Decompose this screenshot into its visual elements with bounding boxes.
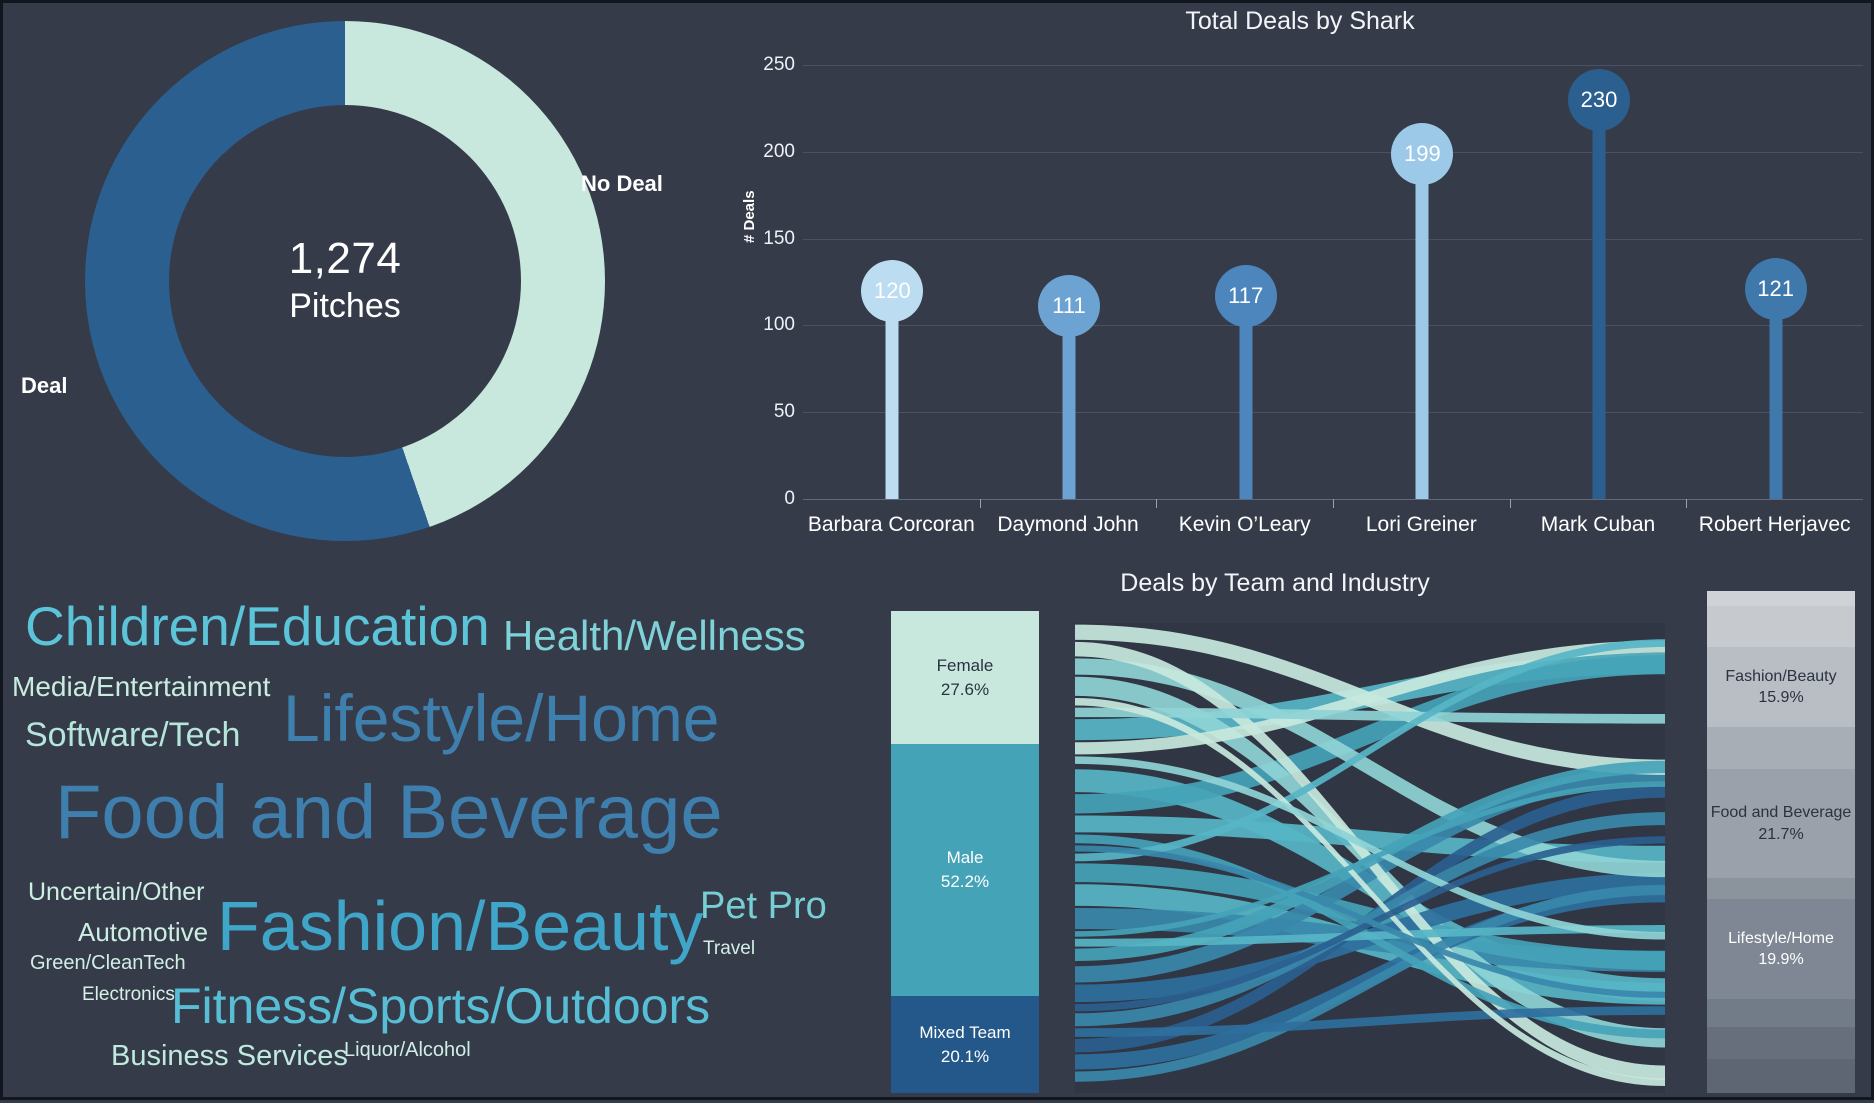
sankey-flow-diagram[interactable] [1075,623,1665,1093]
word-cloud-term[interactable]: Health/Wellness [503,615,806,657]
x-axis-tick-label: Daymond John [997,513,1138,537]
word-cloud-term[interactable]: Fitness/Sports/Outdoors [171,981,710,1031]
word-cloud-term[interactable]: Pet Pro [700,887,827,925]
team-segment-percent: 27.6% [941,678,989,702]
lollipop-value-label: 199 [1391,123,1453,185]
industry-segment-label: Food and Beverage [1711,802,1852,824]
x-axis-tick-label: Lori Greiner [1366,513,1477,537]
industry-segment[interactable] [1707,878,1855,899]
lollipop-marker[interactable]: 111 [1068,306,1070,499]
word-cloud-term[interactable]: Software/Tech [25,718,240,752]
x-axis-tick-mark [1510,499,1511,508]
x-axis-tick-mark [1686,499,1687,508]
donut-label-deal: Deal [21,373,67,399]
industry-segment[interactable]: Food and Beverage21.7% [1707,769,1855,878]
sankey-title: Deals by Team and Industry [903,569,1647,598]
word-cloud-term[interactable]: Travel [703,939,755,958]
industry-segment-percent: 19.9% [1758,949,1803,971]
industry-word-cloud[interactable]: Children/EducationHealth/WellnessMedia/E… [3,563,843,1103]
lollipop-value-label: 117 [1215,265,1277,327]
y-axis-tick-label: 200 [763,141,795,163]
team-segment-label: Mixed Team [919,1021,1010,1045]
x-axis-tick-mark [980,499,981,508]
word-cloud-term[interactable]: Lifestyle/Home [283,685,720,751]
y-axis-tick-label: 0 [784,488,795,510]
y-axis-tick-label: 250 [763,54,795,76]
x-axis: Barbara CorcoranDaymond JohnKevin O’Lear… [803,499,1863,559]
x-axis-tick-label: Mark Cuban [1541,513,1655,537]
lollipop-value-label: 111 [1038,275,1100,337]
industry-segment-label: Lifestyle/Home [1728,928,1834,950]
donut-center-text: 1,274 Pitches [85,21,605,541]
lollipop-marker[interactable]: 117 [1245,296,1247,499]
industry-segment[interactable] [1707,591,1855,606]
word-cloud-term[interactable]: Food and Beverage [55,775,723,851]
team-segment-label: Male [947,846,984,870]
donut-chart[interactable]: 1,274 Pitches [85,21,605,541]
deals-by-shark-title: Total Deals by Shark [723,7,1874,36]
lollipop-value-label: 230 [1568,69,1630,131]
industry-segment[interactable] [1707,1059,1855,1093]
team-composition-bar[interactable]: Female27.6%Male52.2%Mixed Team20.1% [891,611,1039,1093]
donut-total-value: 1,274 [289,234,402,285]
x-axis-tick-label: Robert Herjavec [1699,513,1851,537]
deals-by-shark-panel: Total Deals by Shark # Deals 05010015020… [723,3,1874,563]
lollipop-stem [886,291,899,499]
x-axis-tick-mark [1333,499,1334,508]
word-cloud-term[interactable]: Uncertain/Other [28,880,204,905]
industry-segment[interactable] [1707,606,1855,647]
donut-label-no-deal: No Deal [581,171,663,197]
word-cloud-term[interactable]: Media/Entertainment [12,673,270,701]
word-cloud-term[interactable]: Fashion/Beauty [217,891,703,961]
team-segment-percent: 20.1% [941,1045,989,1069]
team-segment-label: Female [937,654,994,678]
industry-segment[interactable] [1707,1027,1855,1059]
donut-total-label: Pitches [289,285,401,328]
lollipop-stem [1593,100,1606,499]
lollipop-marker[interactable]: 121 [1775,289,1777,499]
lollipop-value-label: 121 [1745,258,1807,320]
y-axis-tick-label: 50 [774,401,795,423]
industry-composition-bar[interactable]: Fashion/Beauty15.9%Food and Beverage21.7… [1707,591,1855,1093]
lollipop-plot-area: 050100150200250120111117199230121 [803,65,1863,499]
y-axis-tick-label: 150 [763,228,795,250]
word-cloud-term[interactable]: Business Services [111,1042,348,1071]
team-segment[interactable]: Mixed Team20.1% [891,996,1039,1093]
dashboard: 1,274 Pitches No Deal Deal Total Deals b… [0,0,1874,1100]
lollipop-stem [1416,154,1429,499]
lollipop-marker[interactable]: 199 [1421,154,1423,499]
word-cloud-term[interactable]: Liquor/Alcohol [344,1040,471,1060]
industry-segment[interactable] [1707,727,1855,769]
lollipop-value-label: 120 [861,260,923,322]
word-cloud-term[interactable]: Automotive [78,919,208,945]
lollipop-marker[interactable]: 230 [1598,100,1600,499]
industry-segment-percent: 21.7% [1758,824,1803,846]
grid-line [803,65,1863,66]
lollipop-stem [1769,289,1782,499]
y-axis-label: # Deals [741,190,758,243]
team-segment[interactable]: Female27.6% [891,611,1039,744]
x-axis-tick-mark [1156,499,1157,508]
team-segment-percent: 52.2% [941,870,989,894]
y-axis-tick-label: 100 [763,314,795,336]
grid-line [803,412,1863,413]
deals-by-team-industry-panel: Deals by Team and Industry Female27.6%Ma… [843,563,1874,1103]
word-cloud-term[interactable]: Green/CleanTech [30,953,186,973]
grid-line [803,239,1863,240]
grid-line [803,325,1863,326]
grid-line [803,152,1863,153]
word-cloud-term[interactable]: Electronics [82,985,175,1004]
word-cloud-term[interactable]: Children/Education [25,599,490,654]
x-axis-tick-label: Barbara Corcoran [808,513,975,537]
industry-segment[interactable]: Lifestyle/Home19.9% [1707,899,1855,999]
industry-segment-percent: 15.9% [1758,687,1803,709]
team-segment[interactable]: Male52.2% [891,744,1039,996]
industry-segment[interactable] [1707,999,1855,1027]
pitches-donut-panel: 1,274 Pitches No Deal Deal [3,3,723,563]
lollipop-marker[interactable]: 120 [891,291,893,499]
industry-segment-label: Fashion/Beauty [1725,666,1836,688]
sankey-svg [1075,623,1665,1093]
industry-segment[interactable]: Fashion/Beauty15.9% [1707,647,1855,727]
x-axis-tick-label: Kevin O’Leary [1179,513,1311,537]
